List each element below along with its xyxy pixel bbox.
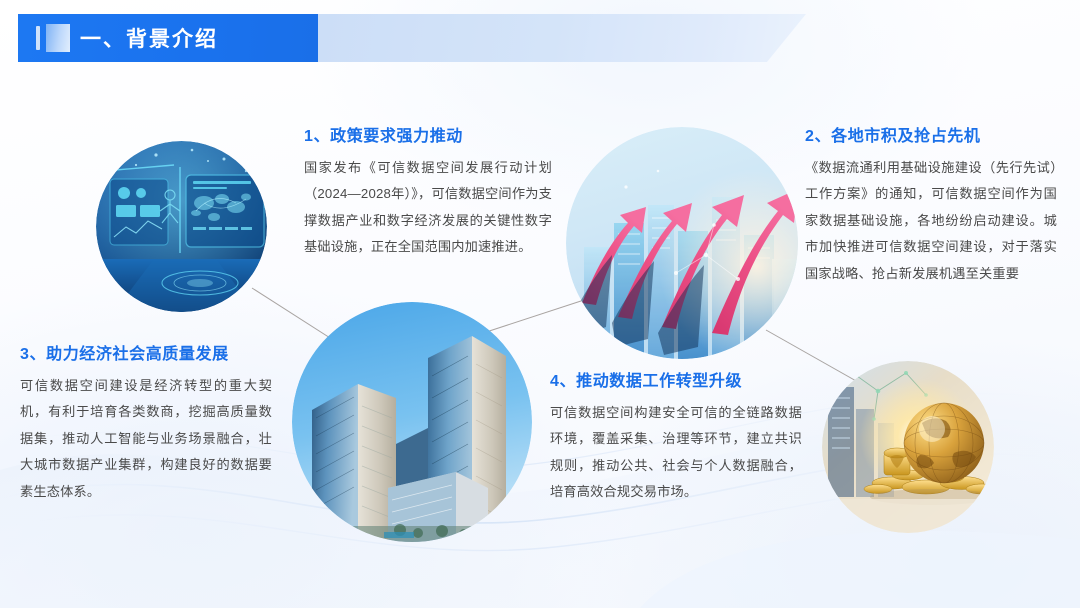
content-block-cities: 2、各地市积及抢占先机 《数据流通利用基础设施建设（先行先试）工作方案》的通知，… <box>805 122 1057 287</box>
block-body-economy: 可信数据空间建设是经济转型的重大契机，有利于培育各类数商，挖掘高质量数据集，推动… <box>20 373 272 505</box>
slide-canvas: （一）建设背景 一、背景介绍 <box>0 0 1080 608</box>
skyscrapers-image <box>292 302 532 542</box>
header-secondary-bar <box>318 14 806 62</box>
header-accent-bars <box>36 24 70 52</box>
content-block-economy: 3、助力经济社会高质量发展 可信数据空间建设是经济转型的重大契机，有利于培育各类… <box>20 340 272 505</box>
block-heading-economy: 3、助力经济社会高质量发展 <box>20 340 272 364</box>
content-block-policy: 1、政策要求强力推动 国家发布《可信数据空间发展行动计划（2024—2028年）… <box>304 122 552 261</box>
block-heading-cities: 2、各地市积及抢占先机 <box>805 122 1057 146</box>
golden-globe-image <box>822 361 994 533</box>
content-block-transform: 4、推动数据工作转型升级 可信数据空间构建安全可信的全链路数据环境，覆盖采集、治… <box>550 367 802 506</box>
header-main-bar: 一、背景介绍 <box>18 14 318 62</box>
block-body-cities: 《数据流通利用基础设施建设（先行先试）工作方案》的通知，可信数据空间作为国家数据… <box>805 155 1057 287</box>
header-main-title: 一、背景介绍 <box>80 23 218 53</box>
slide-header: （一）建设背景 一、背景介绍 <box>0 14 806 62</box>
data-dashboard-image <box>96 141 267 312</box>
growth-arrows-image <box>566 127 798 359</box>
header-bar-thin-icon <box>36 26 40 50</box>
block-body-policy: 国家发布《可信数据空间发展行动计划（2024—2028年）》，可信数据空间作为支… <box>304 155 552 261</box>
block-heading-transform: 4、推动数据工作转型升级 <box>550 367 802 391</box>
block-heading-policy: 1、政策要求强力推动 <box>304 122 552 146</box>
header-bar-wide-icon <box>46 24 70 52</box>
block-body-transform: 可信数据空间构建安全可信的全链路数据环境，覆盖采集、治理等环节，建立共识规则，推… <box>550 400 802 506</box>
